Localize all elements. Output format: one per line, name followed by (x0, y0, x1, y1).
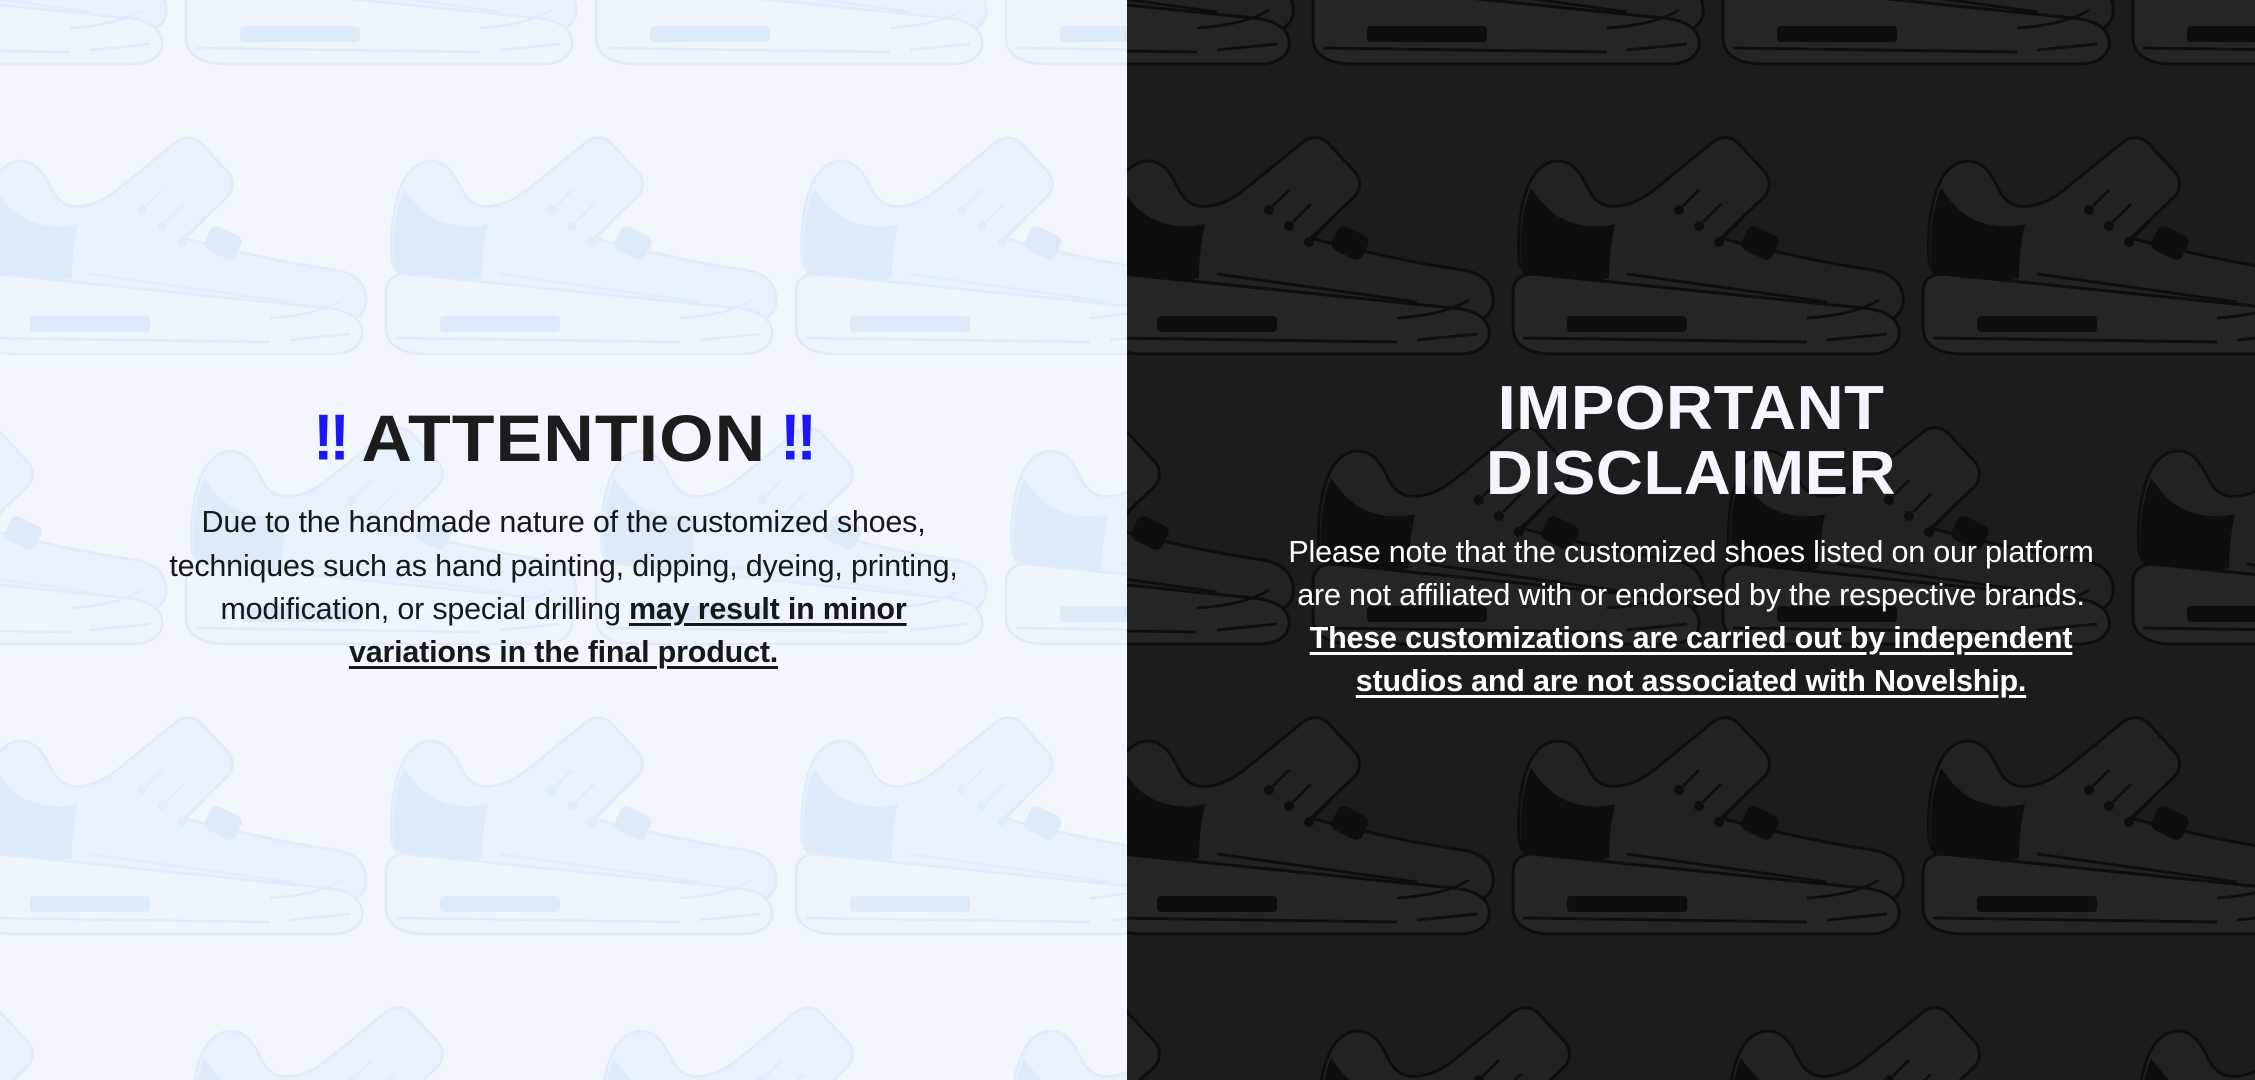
disclaimer-headline-line1: IMPORTANT (1498, 374, 1885, 443)
disclaimer-content: IMPORTANT DISCLAIMER Please note that th… (1127, 376, 2255, 703)
disclaimer-body-lead: Please note that the customized shoes li… (1288, 535, 2093, 612)
attention-panel: ‼ ATTENTION ‼ Due to the handmade nature… (0, 0, 1127, 1080)
attention-body-text: Due to the handmade nature of the custom… (164, 501, 964, 674)
double-exclamation-icon-left: ‼ (313, 406, 346, 471)
promo-banner: ‼ ATTENTION ‼ Due to the handmade nature… (0, 0, 2255, 1080)
disclaimer-headline-line2: DISCLAIMER (1486, 439, 1896, 508)
attention-headline: ‼ ATTENTION ‼ (40, 405, 1087, 471)
disclaimer-panel: IMPORTANT DISCLAIMER Please note that th… (1127, 0, 2255, 1080)
double-exclamation-icon-right: ‼ (780, 406, 813, 471)
attention-content: ‼ ATTENTION ‼ Due to the handmade nature… (0, 405, 1127, 674)
disclaimer-body-emphasis: These customizations are carried out by … (1310, 621, 2073, 698)
disclaimer-body-text: Please note that the customized shoes li… (1281, 531, 2101, 704)
disclaimer-headline: IMPORTANT DISCLAIMER (1141, 376, 2241, 506)
attention-headline-word: ATTENTION (361, 405, 766, 471)
